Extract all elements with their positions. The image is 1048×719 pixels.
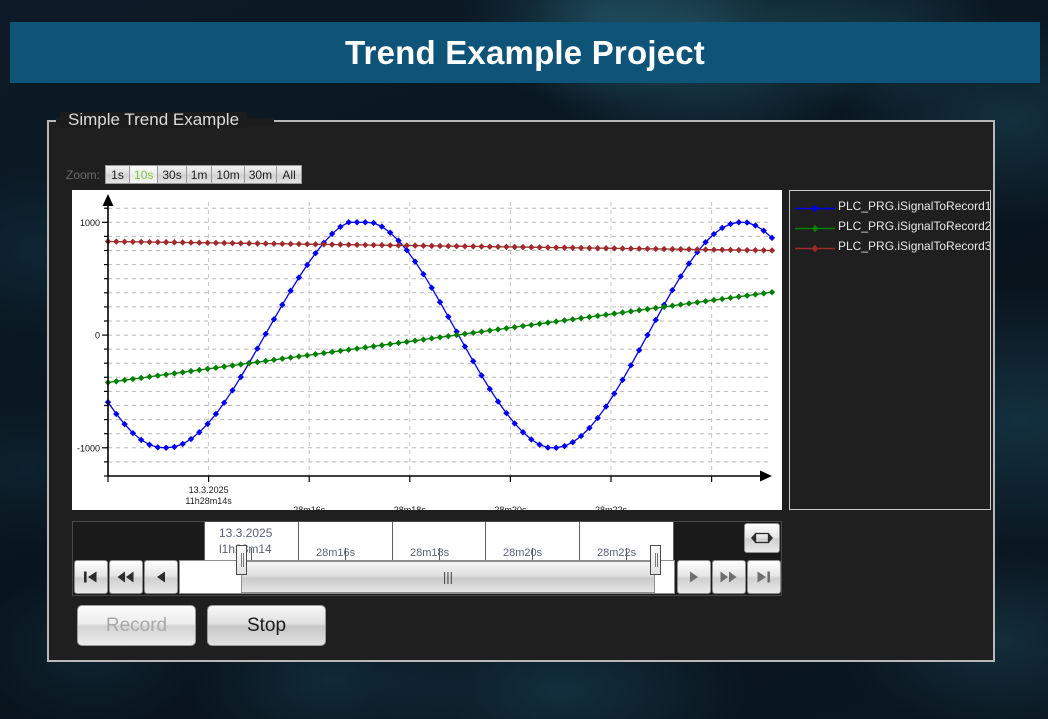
series-marker: [445, 333, 451, 339]
series-marker: [370, 220, 376, 226]
series-marker: [321, 350, 327, 356]
series-marker: [312, 351, 318, 357]
series-marker: [130, 239, 136, 245]
y-axis-tick-label: 0: [95, 331, 100, 341]
fast-forward-button[interactable]: [712, 560, 746, 594]
series-marker: [478, 243, 484, 249]
ruler-major-tick: [485, 522, 486, 561]
series-marker: [686, 300, 692, 306]
series-marker: [761, 290, 767, 296]
series-marker: [545, 319, 551, 325]
series-marker: [736, 219, 742, 225]
legend-item[interactable]: PLC_PRG.iSignalToRecord3: [794, 236, 990, 256]
series-marker: [536, 244, 542, 250]
series-marker: [412, 242, 418, 248]
zoom-button-10m[interactable]: 10m: [212, 166, 244, 183]
skip-to-end-button[interactable]: [747, 560, 781, 594]
series-marker: [238, 240, 244, 246]
series-marker: [354, 242, 360, 248]
series-marker: [370, 242, 376, 248]
fit-to-window-icon: [750, 530, 774, 546]
legend-item-label: PLC_PRG.iSignalToRecord1: [838, 199, 990, 213]
series-marker: [279, 241, 285, 247]
record-button-label: Record: [106, 615, 167, 637]
series-marker: [653, 317, 659, 323]
series-marker: [171, 444, 177, 450]
x-axis-clipped-label: 28m16s: [293, 505, 326, 510]
series-marker: [644, 332, 650, 338]
series-marker: [462, 331, 468, 337]
series-marker: [163, 445, 169, 451]
series-marker: [736, 247, 742, 253]
series-marker: [727, 295, 733, 301]
timeline-ruler: 13.3.2025 l1h28m14 28m16s28m18s28m20s28m…: [73, 522, 781, 561]
series-marker: [412, 337, 418, 343]
series-marker: [719, 247, 725, 253]
skip-to-start-icon: [82, 570, 99, 584]
series-marker: [503, 325, 509, 331]
series-marker: [263, 331, 269, 337]
series-marker: [628, 308, 634, 314]
series-marker: [752, 291, 758, 297]
series-marker: [727, 247, 733, 253]
skip-to-end-icon: [755, 570, 772, 584]
series-marker: [553, 318, 559, 324]
series-marker: [536, 441, 542, 447]
series-marker: [636, 307, 642, 313]
page-title: Trend Example Project: [345, 34, 705, 72]
ruler-major-tick: [298, 522, 299, 561]
x-axis-date-label: 13.3.2025: [189, 485, 229, 495]
step-forward-icon: [688, 570, 700, 584]
series-marker: [545, 444, 551, 450]
series-marker: [644, 246, 650, 252]
series-marker: [761, 247, 767, 253]
series-marker: [769, 289, 775, 295]
series-marker: [180, 441, 186, 447]
series-marker: [404, 339, 410, 345]
series-marker: [719, 296, 725, 302]
series-marker: [221, 240, 227, 246]
fast-rewind-button[interactable]: [109, 560, 143, 594]
series-marker: [561, 443, 567, 449]
series-marker: [603, 245, 609, 251]
range-resize-handle-right[interactable]: [650, 545, 661, 575]
thumb-grip: |||: [443, 570, 453, 585]
legend-swatch-icon: [794, 201, 836, 212]
series-marker: [520, 244, 526, 250]
series-marker: [263, 240, 269, 246]
zoom-button-1m[interactable]: 1m: [187, 166, 213, 183]
chart-series-3: [105, 238, 775, 253]
series-marker: [420, 336, 426, 342]
series-marker: [354, 345, 360, 351]
series-marker: [155, 444, 161, 450]
series-marker: [180, 239, 186, 245]
series-marker: [470, 243, 476, 249]
series-marker: [238, 374, 244, 380]
series-marker: [213, 240, 219, 246]
series-marker: [346, 219, 352, 225]
zoom-toolbar: Zoom: 1s10s30s1m10m30mAll: [66, 165, 302, 184]
series-marker: [545, 244, 551, 250]
series-marker: [346, 242, 352, 248]
series-marker: [669, 303, 675, 309]
series-marker: [287, 354, 293, 360]
series-marker: [744, 292, 750, 298]
series-marker: [254, 240, 260, 246]
series-marker: [711, 297, 717, 303]
series-marker: [487, 243, 493, 249]
series-marker: [686, 246, 692, 252]
series-marker: [611, 310, 617, 316]
series-marker: [420, 243, 426, 249]
app-title-banner: Trend Example Project: [10, 22, 1040, 83]
series-marker: [503, 244, 509, 250]
series-marker: [296, 353, 302, 359]
series-marker: [188, 368, 194, 374]
series-marker: [121, 238, 127, 244]
series-marker: [744, 219, 750, 225]
series-marker: [171, 370, 177, 376]
series-marker: [171, 239, 177, 245]
series-marker: [138, 375, 144, 381]
stop-button[interactable]: Stop: [207, 605, 326, 646]
series-marker: [329, 241, 335, 247]
series-marker: [445, 314, 451, 320]
series-marker: [204, 240, 210, 246]
zoom-button-1s[interactable]: 1s: [106, 166, 130, 183]
ruler-major-tick: [204, 522, 205, 561]
x-axis-clipped-label: 28m18s: [394, 505, 427, 510]
series-marker: [221, 363, 227, 369]
series-marker: [487, 327, 493, 333]
series-marker: [362, 344, 368, 350]
series-marker: [146, 239, 152, 245]
series-marker: [453, 243, 459, 249]
legend-item-label: PLC_PRG.iSignalToRecord3: [838, 239, 990, 253]
ruler-tick-label: 28m18s: [410, 547, 449, 559]
series-marker: [113, 238, 119, 244]
series-marker: [296, 274, 302, 280]
timeline-scroll-row: |||: [73, 559, 781, 595]
series-marker: [453, 332, 459, 338]
series-marker: [379, 342, 385, 348]
zoom-button-group: 1s10s30s1m10m30mAll: [105, 165, 302, 184]
series-marker: [254, 345, 260, 351]
trend-chart[interactable]: -10000100013.3.202511h28m14s28m16s28m18s…: [72, 190, 782, 510]
x-axis-clipped-label: 28m22s: [595, 505, 628, 510]
series-marker: [155, 372, 161, 378]
groupbox-title: Simple Trend Example: [60, 112, 247, 128]
legend-item-label: PLC_PRG.iSignalToRecord2: [838, 219, 990, 233]
series-marker: [744, 247, 750, 253]
zoom-button-10s[interactable]: 10s: [130, 166, 158, 183]
series-marker: [603, 312, 609, 318]
series-marker: [138, 239, 144, 245]
range-resize-handle-left[interactable]: [236, 545, 247, 575]
fit-to-window-button[interactable]: [744, 523, 780, 553]
series-marker: [287, 241, 293, 247]
series-marker: [387, 341, 393, 347]
series-marker: [653, 246, 659, 252]
series-marker: [578, 315, 584, 321]
series-marker: [595, 313, 601, 319]
series-marker: [246, 360, 252, 366]
zoom-button-all[interactable]: All: [277, 166, 301, 183]
series-marker: [429, 243, 435, 249]
series-marker: [163, 371, 169, 377]
timeline-date-label: 13.3.2025: [219, 526, 272, 540]
series-marker: [337, 241, 343, 247]
series-marker: [346, 347, 352, 353]
series-marker: [337, 348, 343, 354]
ruler-tick-label: 28m20s: [503, 547, 542, 559]
series-marker: [271, 241, 277, 247]
series-marker: [702, 298, 708, 304]
series-marker: [188, 239, 194, 245]
stop-button-label: Stop: [247, 615, 286, 637]
series-marker: [669, 246, 675, 252]
series-marker: [312, 241, 318, 247]
step-back-button[interactable]: [144, 560, 178, 594]
ruler-tick-label: 28m16s: [316, 547, 355, 559]
ruler-major-tick: [579, 522, 580, 561]
series-marker: [362, 242, 368, 248]
series-marker: [113, 378, 119, 384]
series-marker: [553, 445, 559, 451]
series-marker: [204, 366, 210, 372]
series-marker: [121, 377, 127, 383]
ruler-major-tick: [392, 522, 393, 561]
legend-item[interactable]: PLC_PRG.iSignalToRecord2: [794, 216, 990, 236]
series-marker: [279, 356, 285, 362]
series-marker: [462, 243, 468, 249]
series-marker: [238, 361, 244, 367]
series-marker: [694, 299, 700, 305]
fast-forward-icon: [719, 570, 738, 584]
chart-legend: PLC_PRG.iSignalToRecord1PLC_PRG.iSignalT…: [789, 190, 991, 510]
timeline-scrollbar-thumb[interactable]: |||: [241, 561, 655, 593]
series-marker: [354, 219, 360, 225]
series-marker: [678, 246, 684, 252]
series-marker: [752, 222, 758, 228]
series-marker: [329, 349, 335, 355]
legend-swatch-icon: [794, 241, 836, 252]
series-marker: [146, 374, 152, 380]
series-marker: [296, 241, 302, 247]
timeline-navigator[interactable]: 13.3.2025 l1h28m14 28m16s28m18s28m20s28m…: [72, 521, 782, 596]
series-marker: [254, 359, 260, 365]
x-axis-clipped-label: 28m20s: [494, 505, 527, 510]
series-marker: [196, 367, 202, 373]
series-marker: [752, 247, 758, 253]
series-marker: [213, 365, 219, 371]
series-marker: [395, 340, 401, 346]
series-marker: [387, 242, 393, 248]
series-marker: [528, 244, 534, 250]
series-marker: [370, 343, 376, 349]
series-marker: [271, 357, 277, 363]
series-marker: [146, 441, 152, 447]
series-marker: [163, 239, 169, 245]
y-axis-tick-label: 1000: [80, 218, 100, 228]
series-marker: [271, 316, 277, 322]
series-marker: [702, 246, 708, 252]
series-marker: [570, 316, 576, 322]
y-axis-arrow-icon: [103, 194, 114, 206]
series-marker: [536, 321, 542, 327]
fast-rewind-icon: [116, 570, 135, 584]
zoom-button-30m[interactable]: 30m: [245, 166, 277, 183]
series-marker: [769, 247, 775, 253]
step-back-icon: [155, 570, 167, 584]
zoom-button-30s[interactable]: 30s: [158, 166, 186, 183]
series-marker: [155, 239, 161, 245]
series-marker: [653, 305, 659, 311]
series-marker: [528, 322, 534, 328]
series-marker: [727, 221, 733, 227]
series-marker: [561, 244, 567, 250]
series-marker: [619, 309, 625, 315]
series-marker: [495, 326, 501, 332]
series-marker: [586, 314, 592, 320]
timeline-scrollbar-track[interactable]: |||: [179, 560, 675, 594]
series-marker: [636, 347, 642, 353]
y-axis-tick-label: -1000: [77, 443, 100, 453]
series-marker: [661, 246, 667, 252]
series-marker: [445, 243, 451, 249]
step-forward-button[interactable]: [677, 560, 711, 594]
series-marker: [304, 241, 310, 247]
legend-swatch-icon: [794, 221, 836, 232]
series-marker: [196, 240, 202, 246]
series-marker: [429, 284, 435, 290]
series-marker: [478, 328, 484, 334]
series-marker: [736, 294, 742, 300]
series-marker: [495, 244, 501, 250]
series-marker: [437, 299, 443, 305]
series-marker: [246, 240, 252, 246]
series-marker: [512, 244, 518, 250]
zoom-label: Zoom:: [66, 168, 100, 182]
ruler-tick-label: 28m22s: [597, 547, 636, 559]
series-marker: [180, 369, 186, 375]
legend-item[interactable]: PLC_PRG.iSignalToRecord1: [794, 196, 990, 216]
series-marker: [362, 219, 368, 225]
trend-chart-svg: -10000100013.3.202511h28m14s28m16s28m18s…: [72, 190, 782, 510]
series-marker: [437, 243, 443, 249]
record-button[interactable]: Record: [77, 605, 196, 646]
series-marker: [229, 240, 235, 246]
skip-to-start-button[interactable]: [74, 560, 108, 594]
ruler-major-tick: [673, 522, 674, 561]
series-marker: [130, 376, 136, 382]
series-marker: [512, 324, 518, 330]
series-marker: [379, 242, 385, 248]
series-marker: [520, 323, 526, 329]
series-marker: [561, 317, 567, 323]
x-axis-arrow-icon: [760, 471, 772, 482]
series-marker: [553, 244, 559, 250]
series-marker: [429, 335, 435, 341]
x-axis-time-label: 11h28m14s: [185, 496, 232, 506]
